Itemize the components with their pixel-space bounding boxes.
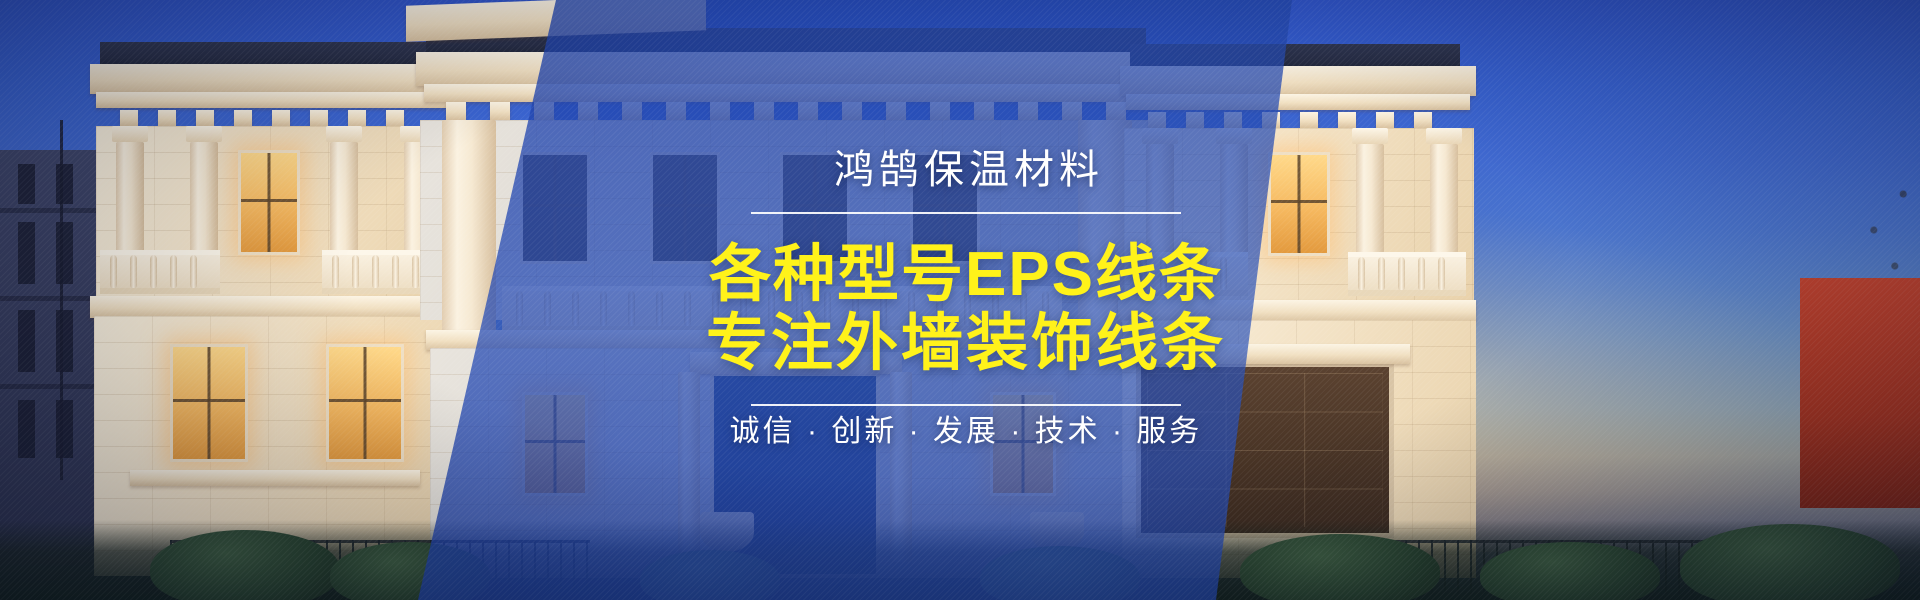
brand-name: 鸿鹄保温材料 xyxy=(646,150,1286,190)
headline-line-1: 各种型号EPS线条 xyxy=(646,240,1286,309)
hero-banner: 鸿鹄保温材料 各种型号EPS线条 专注外墙装饰线条 诚信 · 创新 · 发展 ·… xyxy=(0,0,1920,600)
banner-copy: 鸿鹄保温材料 各种型号EPS线条 专注外墙装饰线条 诚信 · 创新 · 发展 ·… xyxy=(0,0,1920,600)
headline: 各种型号EPS线条 专注外墙装饰线条 xyxy=(646,240,1286,379)
divider-top xyxy=(751,212,1181,214)
tagline: 诚信 · 创新 · 发展 · 技术 · 服务 xyxy=(646,406,1286,450)
headline-line-2: 专注外墙装饰线条 xyxy=(646,309,1286,378)
